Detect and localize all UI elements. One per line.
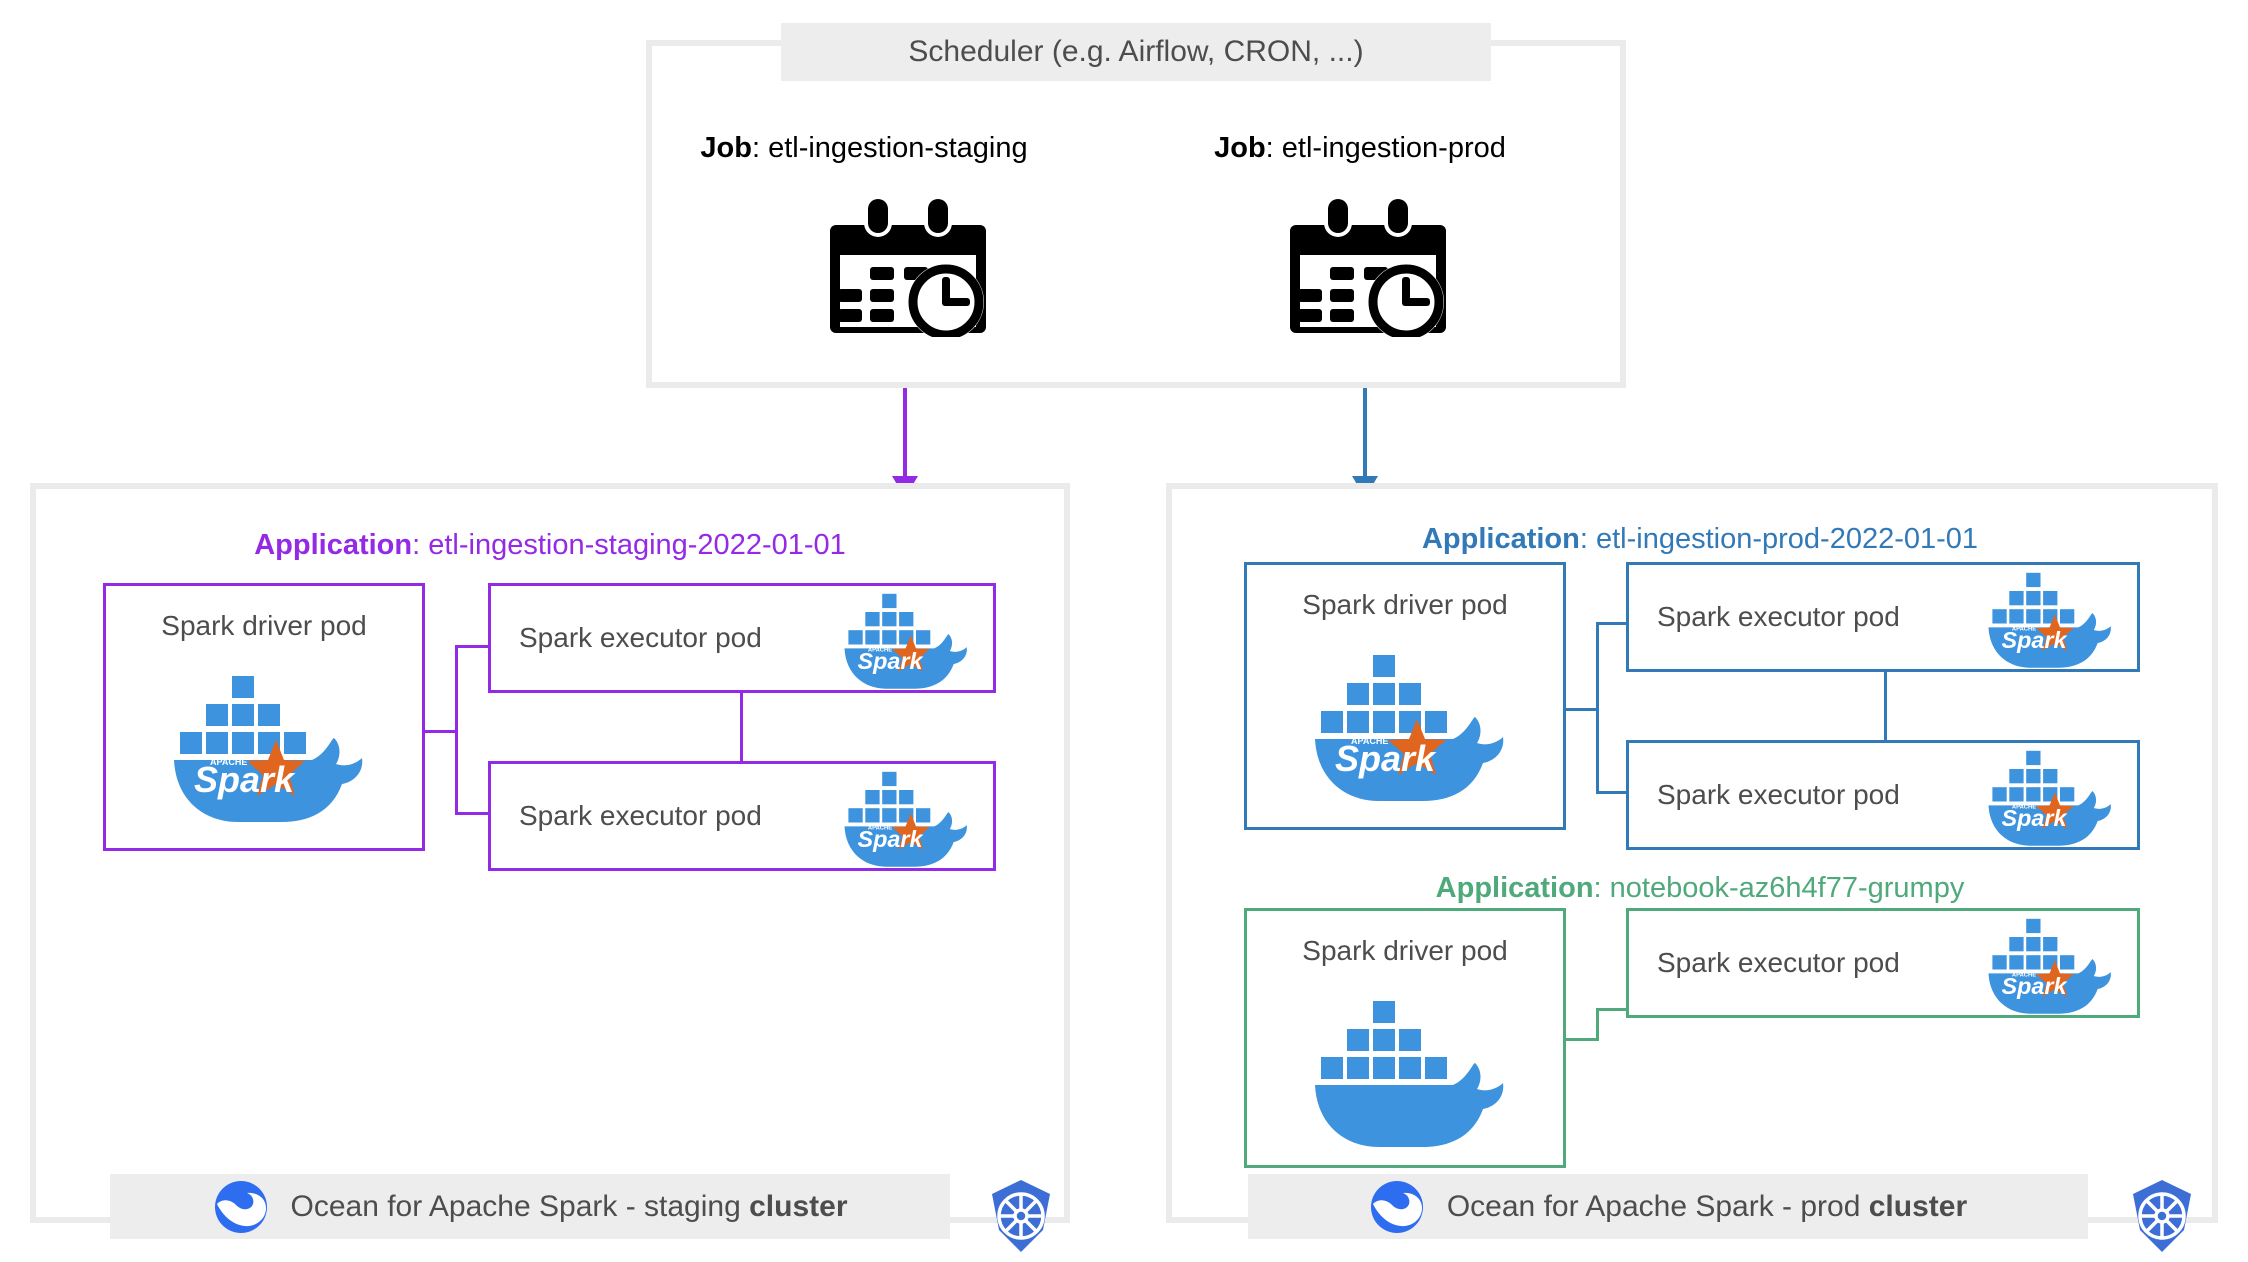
arrow-prod-line (1363, 388, 1367, 483)
application-label-prod: Application: etl-ingestion-prod-2022-01-… (1240, 525, 2160, 554)
docker-spark-logo-icon: Spark APACHE (1967, 743, 2127, 847)
pod-label: Spark driver pod (106, 612, 422, 640)
connector-trunk-prod (1596, 622, 1599, 794)
application-prefix: Application (1422, 523, 1580, 555)
job-label-prod: Job: etl-ingestion-prod (1110, 134, 1610, 163)
pod-label: Spark executor pod (519, 802, 762, 830)
cluster-footer-staging: Ocean for Apache Spark - staging cluster (110, 1174, 950, 1239)
svg-text:APACHE: APACHE (2012, 627, 2036, 633)
connector-driver-trunk-staging (425, 730, 457, 733)
svg-text:APACHE: APACHE (868, 826, 892, 832)
svg-text:APACHE: APACHE (2012, 805, 2036, 811)
connector-branch-exec2-staging (455, 812, 490, 815)
connector-branch-exec1-staging (455, 645, 490, 648)
pod-label: Spark executor pod (1657, 781, 1900, 809)
pod-label: Spark executor pod (519, 624, 762, 652)
connector-trunk-notebook (1596, 1008, 1599, 1041)
application-name-notebook: notebook-az6h4f77-grumpy (1610, 872, 1965, 904)
calendar-clock-icon (828, 197, 988, 337)
spark-driver-pod-prod[interactable]: Spark driver pod Spark APACHE (1244, 562, 1566, 830)
connector-trunk-staging (455, 645, 458, 815)
spark-executor-pod-prod-1[interactable]: Spark executor pod Spark APACHE (1626, 562, 2140, 672)
svg-text:APACHE: APACHE (1351, 736, 1388, 746)
arrow-staging-line (903, 388, 907, 483)
pod-label: Spark executor pod (1657, 603, 1900, 631)
job-prefix-staging: Job (700, 132, 752, 164)
application-label-staging: Application: etl-ingestion-staging-2022-… (100, 531, 1000, 560)
pod-label: Spark driver pod (1247, 591, 1563, 619)
cluster-footer-prefix: Ocean for Apache Spark - staging (291, 1190, 750, 1223)
docker-spark-logo-icon: Spark APACHE (823, 764, 983, 868)
cluster-footer-text: Ocean for Apache Spark - staging cluster (291, 1190, 848, 1224)
svg-text:APACHE: APACHE (2012, 973, 2036, 979)
cluster-footer-prefix: Ocean for Apache Spark - prod (1447, 1190, 1869, 1223)
docker-spark-logo-icon: Spark APACHE (1305, 643, 1505, 803)
application-separator: : (412, 529, 428, 561)
job-prefix-prod: Job (1214, 132, 1266, 164)
job-name-staging: etl-ingestion-staging (768, 132, 1028, 164)
application-prefix: Application (1436, 872, 1594, 904)
spark-driver-pod-notebook[interactable]: Spark driver pod (1244, 908, 1566, 1168)
spark-executor-pod-staging-1[interactable]: Spark executor pod Spark APACHE (488, 583, 996, 693)
pod-label: Spark driver pod (1247, 937, 1563, 965)
job-separator-prod: : (1266, 132, 1282, 164)
job-name-prod: etl-ingestion-prod (1282, 132, 1506, 164)
connector-driver-trunk-notebook (1566, 1038, 1598, 1041)
application-name-staging: etl-ingestion-staging-2022-01-01 (428, 529, 846, 561)
job-separator-staging: : (752, 132, 768, 164)
cluster-footer-text: Ocean for Apache Spark - prod cluster (1447, 1190, 1967, 1224)
pod-label: Spark executor pod (1657, 949, 1900, 977)
connector-exec1-exec2-prod (1884, 672, 1887, 742)
application-prefix: Application (254, 529, 412, 561)
scheduler-title: Scheduler (e.g. Airflow, CRON, ...) (908, 35, 1363, 69)
docker-spark-logo-icon: Spark APACHE (1967, 565, 2127, 669)
diagram-canvas: Scheduler (e.g. Airflow, CRON, ...) Job:… (0, 0, 2248, 1262)
docker-spark-logo-icon: Spark APACHE (164, 664, 364, 824)
docker-spark-logo-icon: Spark APACHE (1967, 911, 2127, 1015)
application-name-prod: etl-ingestion-prod-2022-01-01 (1596, 523, 1978, 555)
scheduler-container (646, 40, 1626, 388)
calendar-clock-icon (1288, 197, 1448, 337)
cluster-footer-bold: cluster (749, 1190, 847, 1223)
cluster-footer-prod: Ocean for Apache Spark - prod cluster (1248, 1174, 2088, 1239)
application-label-notebook: Application: notebook-az6h4f77-grumpy (1240, 874, 2160, 903)
docker-whale-logo-icon (1305, 989, 1505, 1149)
application-separator: : (1594, 872, 1610, 904)
spark-driver-pod-staging[interactable]: Spark driver pod Spark APACHE (103, 583, 425, 851)
docker-spark-logo-icon: Spark APACHE (823, 586, 983, 690)
ocean-logo-icon (213, 1179, 269, 1235)
connector-branch-exec1-prod (1596, 622, 1628, 625)
svg-text:APACHE: APACHE (210, 757, 247, 767)
connector-driver-trunk-prod (1566, 708, 1598, 711)
job-label-staging: Job: etl-ingestion-staging (614, 134, 1114, 163)
connector-branch-exec2-prod (1596, 791, 1628, 794)
spark-executor-pod-staging-2[interactable]: Spark executor pod Spark APACHE (488, 761, 996, 871)
ocean-logo-icon (1369, 1179, 1425, 1235)
scheduler-title-bar: Scheduler (e.g. Airflow, CRON, ...) (781, 23, 1491, 81)
kubernetes-logo-icon (985, 1178, 1057, 1254)
spark-executor-pod-prod-2[interactable]: Spark executor pod Spark APACHE (1626, 740, 2140, 850)
cluster-footer-bold: cluster (1869, 1190, 1967, 1223)
kubernetes-logo-icon (2126, 1178, 2198, 1254)
svg-text:APACHE: APACHE (868, 648, 892, 654)
connector-exec1-exec2-staging (740, 693, 743, 764)
connector-branch-exec1-notebook (1596, 1008, 1628, 1011)
application-separator: : (1580, 523, 1596, 555)
spark-executor-pod-notebook-1[interactable]: Spark executor pod Spark APACHE (1626, 908, 2140, 1018)
